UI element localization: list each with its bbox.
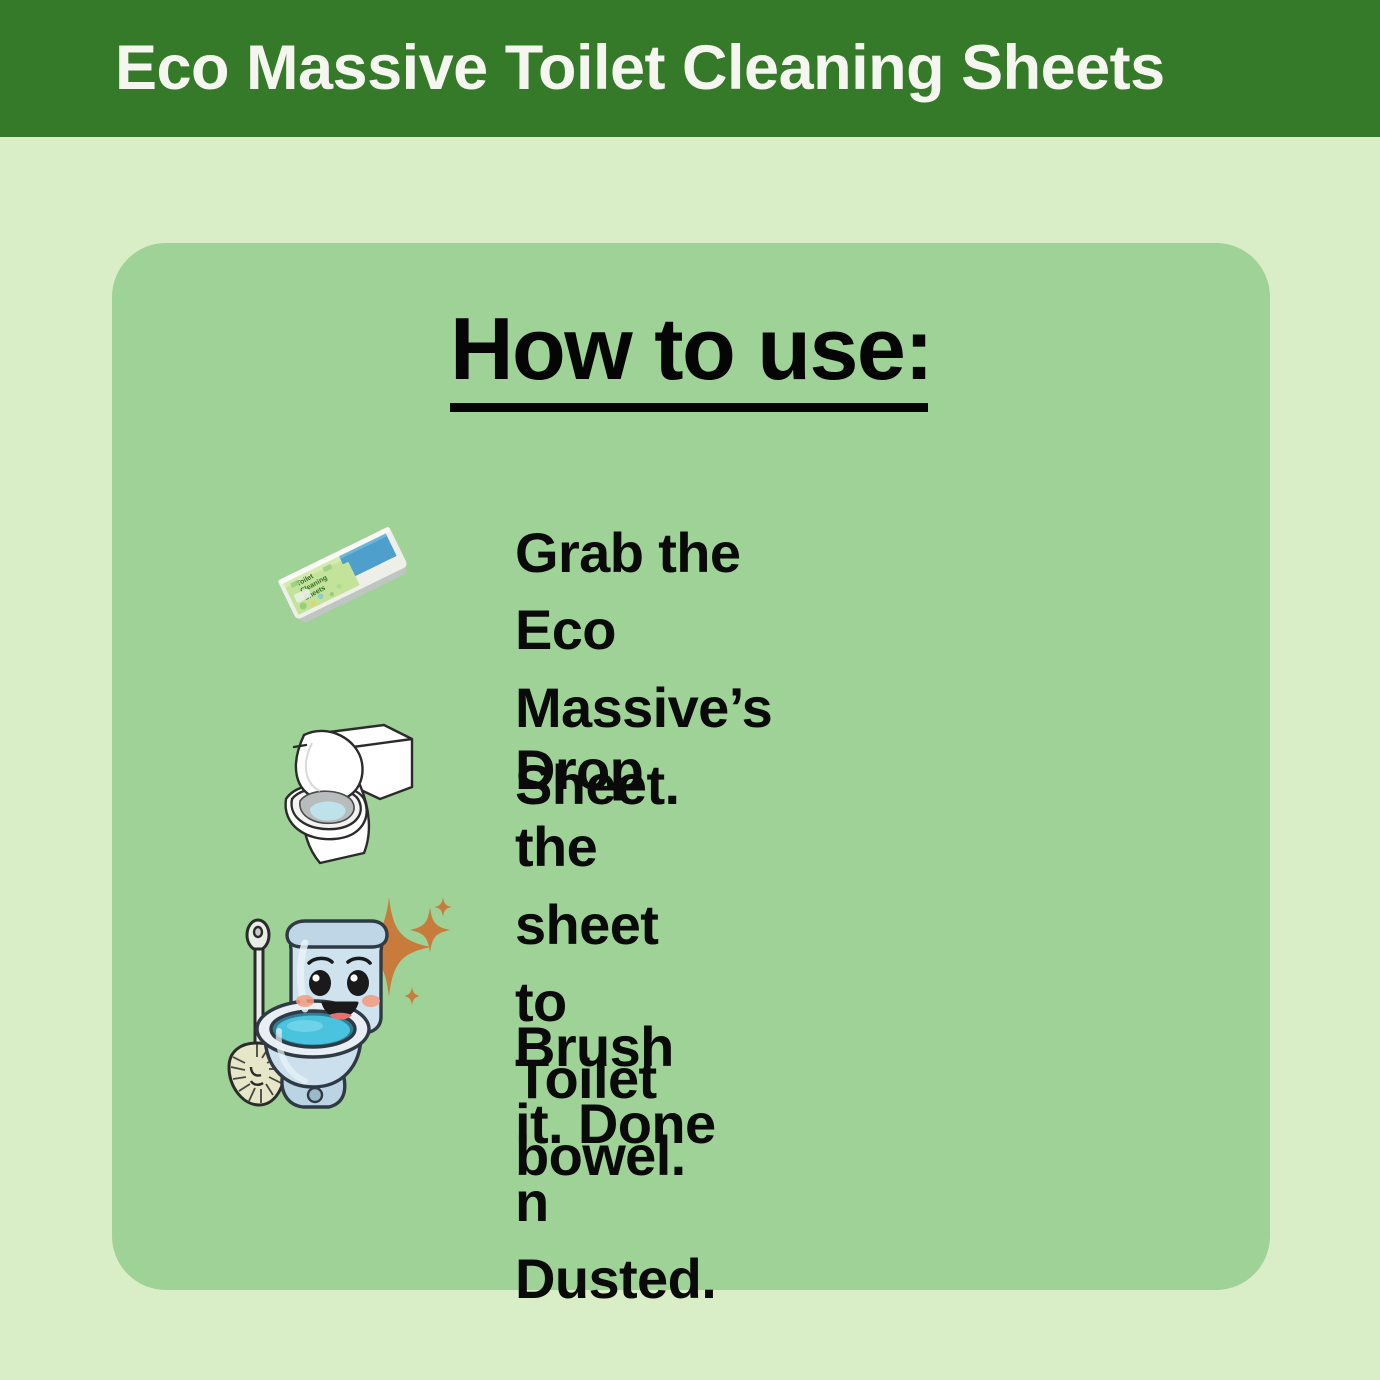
- product-pack-icon: Toilet Cleaning Sheets: [270, 515, 420, 645]
- page-title: Eco Massive Toilet Cleaning Sheets: [115, 37, 1165, 100]
- toilet-line-art-icon: [260, 713, 435, 878]
- header-bar: Eco Massive Toilet Cleaning Sheets: [0, 0, 1380, 137]
- step-text: Brush it. Done n Dusted.: [515, 1008, 716, 1317]
- smiling-toilet-character-icon: [217, 891, 467, 1119]
- how-to-use-card: How to use:: [112, 243, 1270, 1290]
- steps-list: Toilet Cleaning Sheets: [112, 243, 1270, 1290]
